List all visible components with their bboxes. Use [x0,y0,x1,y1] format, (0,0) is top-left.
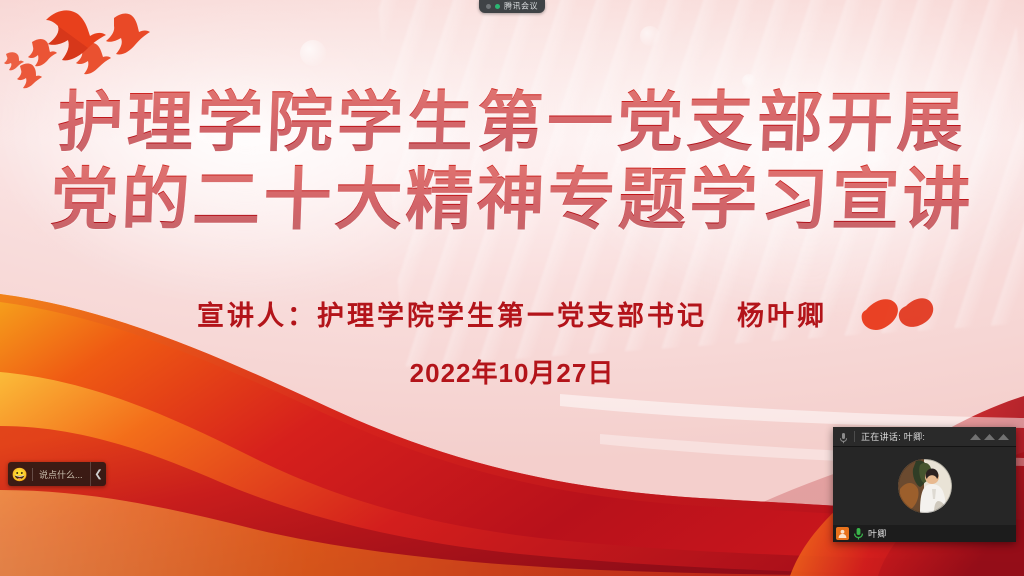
person-icon[interactable] [836,527,849,540]
video-panel-body[interactable] [833,447,1016,525]
participant-avatar [898,459,952,513]
bokeh-dot [520,176,532,188]
smiley-icon[interactable]: 😀 [8,462,32,486]
bokeh-dot [372,96,388,112]
bokeh-dot [640,26,660,46]
video-panel-header: 正在讲话: 叶卿: [833,427,1016,447]
speaking-status-label: 正在讲话: 叶卿: [861,430,963,443]
meeting-status-pill[interactable]: 腾讯会议 [479,0,545,13]
header-divider [854,431,855,442]
meeting-screen-share-view: 护理学院学生第一党支部开展 党的二十大精神专题学习宣讲 宣讲人：护理学院学生第一… [0,0,1024,576]
chevron-left-icon[interactable]: ❮ [90,462,106,486]
bokeh-dot [742,74,756,88]
microphone-icon [839,431,848,443]
microphone-on-icon[interactable] [853,527,864,540]
dove-flock-decoration [2,2,192,97]
status-dot-active-icon [495,4,500,9]
video-panel-footer: 叶卿 [833,525,1016,542]
participant-name-label: 叶卿 [868,527,887,540]
meeting-app-label: 腾讯会议 [504,2,538,10]
chat-input-bar[interactable]: 😀 说点什么... ❮ [8,462,106,486]
speaker-video-panel[interactable]: 正在讲话: 叶卿: [833,427,1016,542]
bokeh-dot [196,130,208,142]
bokeh-dot [300,40,326,66]
chevron-up-icon[interactable] [969,432,1010,442]
chat-placeholder-text[interactable]: 说点什么... [33,468,90,481]
status-dot-inactive-icon [486,4,491,9]
bokeh-dot [868,150,890,172]
